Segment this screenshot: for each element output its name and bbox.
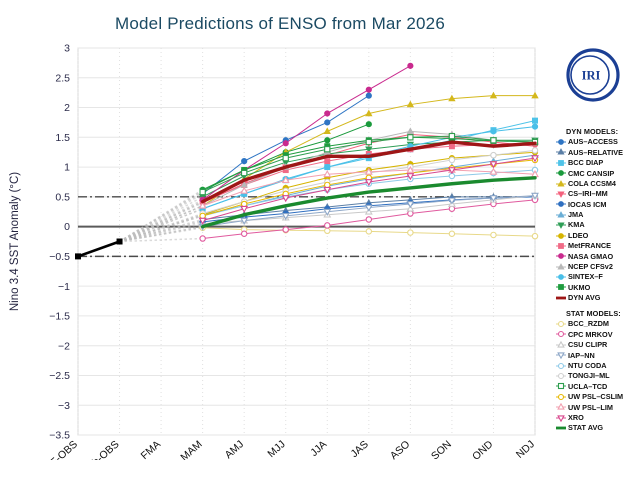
legend-item-label: UW PSL–LIM (568, 404, 613, 411)
legend-item-ncep-cfsv2[interactable]: NCEP CFSv2 (556, 261, 640, 271)
legend-item-cpc-mrkov[interactable]: CPC MRKOV (556, 329, 640, 339)
x-tick-label: OND (470, 438, 496, 460)
chart-legend: DYN MODELS: AUS–ACCESSAUS–RELATIVEBCC DI… (556, 128, 640, 433)
data-point (325, 182, 330, 187)
data-point (241, 201, 246, 206)
legend-item-aus-relative[interactable]: AUS–RELATIVE (556, 147, 640, 157)
legend-dyn-list: AUS–ACCESSAUS–RELATIVEBCC DIAPCMC CANSIP… (556, 137, 640, 303)
legend-item-ntu-coda[interactable]: NTU CODA (556, 360, 640, 370)
legend-item-label: NASA GMAO (568, 253, 613, 260)
legend-item-label: IAP–NN (568, 352, 595, 359)
legend-item-iap-nn[interactable]: IAP–NN (556, 350, 640, 360)
legend-marker-icon (556, 189, 566, 199)
legend-item-metfrance[interactable]: MetFRANCE (556, 241, 640, 251)
data-point (325, 120, 330, 125)
data-point (366, 229, 371, 234)
data-point (449, 134, 454, 139)
legend-marker-icon (556, 210, 566, 220)
data-point (408, 230, 413, 235)
legend-item-label: DYN AVG (568, 294, 600, 301)
legend-marker-icon (556, 231, 566, 241)
legend-marker-icon (556, 423, 566, 433)
y-tick-label: −2.5 (49, 370, 70, 382)
legend-item-dyn-avg[interactable]: DYN AVG (556, 293, 640, 303)
legend-item-label: AUS–RELATIVE (568, 149, 623, 156)
data-point (200, 189, 205, 194)
legend-marker-icon (556, 262, 566, 272)
legend-item-ldeo[interactable]: LDEO (556, 230, 640, 240)
legend-item-csu-clipr[interactable]: CSU CLIPR (556, 340, 640, 350)
legend-marker-icon (556, 158, 566, 168)
data-point (366, 87, 371, 92)
svg-text:IRI: IRI (582, 69, 601, 83)
legend-marker-icon (556, 319, 566, 329)
x-tick-label: JJA (308, 438, 329, 459)
data-point (325, 223, 330, 228)
legend-marker-icon (556, 220, 566, 230)
legend-item-label: XRO (568, 414, 584, 421)
plot-frame (78, 48, 535, 435)
legend-marker-icon (556, 381, 566, 391)
legend-marker-icon (556, 329, 566, 339)
legend-item-label: BCC DIAP (568, 159, 603, 166)
data-point (408, 135, 413, 140)
legend-item-label: NTU CODA (568, 362, 607, 369)
y-tick-label: −3 (58, 400, 70, 412)
x-tick-label: MAM (178, 438, 204, 460)
legend-marker-icon (556, 168, 566, 178)
x-tick-label: ASO (388, 438, 413, 460)
legend-item-bcc-diap[interactable]: BCC DIAP (556, 158, 640, 168)
legend-item-label: CSU CLIPR (568, 341, 607, 348)
legend-item-label: MetFRANCE (568, 242, 611, 249)
legend-item-tongji-ml[interactable]: TONGJI–ML (556, 371, 640, 381)
data-point (325, 111, 330, 116)
data-point (283, 141, 288, 146)
legend-item-label: CPC MRKOV (568, 331, 613, 338)
legend-item-xro[interactable]: XRO (556, 412, 640, 422)
legend-item-uw-psl-cslim[interactable]: UW PSL–CSLIM (556, 392, 640, 402)
data-point (366, 122, 371, 127)
legend-item-label: TONGJI–ML (568, 372, 610, 379)
legend-marker-icon (556, 272, 566, 282)
legend-header-stat: STAT MODELS: (566, 310, 640, 317)
legend-marker-icon (556, 241, 566, 251)
y-tick-label: 1 (64, 162, 70, 174)
legend-item-label: NCEP CFSv2 (568, 263, 613, 270)
legend-item-label: AUS–ACCESS (568, 138, 618, 145)
legend-item-label: UKMO (568, 284, 590, 291)
legend-item-jma[interactable]: JMA (556, 210, 640, 220)
data-point (491, 232, 496, 237)
legend-marker-icon (556, 402, 566, 412)
legend-item-label: JMA (568, 211, 583, 218)
enso-chart-svg: 32.521.510.50−0.5−1−1.5−2−2.5−3−3.5Nino … (0, 40, 560, 460)
x-tick-label: Feb-OBS (81, 438, 122, 460)
data-point (532, 233, 537, 238)
page-title: Model Predictions of ENSO from Mar 2026 (0, 14, 560, 34)
legend-item-iocas-icm[interactable]: IOCAS ICM (556, 199, 640, 209)
y-tick-label: −0.5 (49, 251, 70, 263)
legend-item-label: UCLA–TCD (568, 383, 607, 390)
legend-marker-icon (556, 293, 566, 303)
legend-marker-icon (556, 199, 566, 209)
legend-item-ukmo[interactable]: UKMO (556, 282, 640, 292)
x-tick-label: FMA (139, 438, 164, 460)
legend-item-label: UW PSL–CSLIM (568, 393, 623, 400)
data-point (491, 129, 496, 134)
legend-item-label: CMC CANSIP (568, 170, 614, 177)
legend-marker-icon (556, 147, 566, 157)
legend-marker-icon (556, 413, 566, 423)
data-point (241, 158, 246, 163)
data-point (532, 118, 537, 123)
legend-stat-list: BCC_RZDMCPC MRKOVCSU CLIPRIAP–NNNTU CODA… (556, 319, 640, 433)
observed-point (117, 239, 123, 245)
legend-marker-icon (556, 251, 566, 261)
legend-item-uw-psl-lim[interactable]: UW PSL–LIM (556, 402, 640, 412)
data-point (449, 206, 454, 211)
data-point (532, 124, 537, 129)
legend-item-label: SINTEX–F (568, 273, 603, 280)
legend-marker-icon (556, 282, 566, 292)
legend-item-label: STAT AVG (568, 424, 603, 431)
data-point (491, 152, 496, 157)
data-point (200, 213, 205, 218)
legend-item-label: LDEO (568, 232, 588, 239)
legend-marker-icon (556, 179, 566, 189)
y-tick-label: 3 (64, 43, 70, 55)
legend-item-nasa-gmao[interactable]: NASA GMAO (556, 251, 640, 261)
y-tick-label: −2 (58, 340, 70, 352)
data-point (449, 157, 454, 162)
legend-marker-icon (556, 340, 566, 350)
data-point (283, 156, 288, 161)
data-point (366, 139, 371, 144)
legend-item-label: CS–IRI–MM (568, 190, 608, 197)
y-tick-label: −3.5 (49, 430, 70, 442)
data-point (366, 93, 371, 98)
y-axis-label: Nino 3.4 SST Anomaly (°C) (9, 172, 21, 311)
data-point (283, 227, 288, 232)
legend-item-cs-iri-mm[interactable]: CS–IRI–MM (556, 189, 640, 199)
legend-header-dyn: DYN MODELS: (566, 128, 640, 135)
chart-plot-area: 32.521.510.50−0.5−1−1.5−2−2.5−3−3.5Nino … (0, 40, 560, 460)
legend-marker-icon (556, 392, 566, 402)
legend-item-cola-ccsm4[interactable]: COLA CCSM4 (556, 178, 640, 188)
x-tick-label: JAS (348, 438, 370, 460)
iri-logo: IRI (566, 48, 620, 102)
data-point (449, 144, 454, 149)
legend-marker-icon (556, 361, 566, 371)
data-point (366, 217, 371, 222)
y-tick-label: 2.5 (55, 72, 70, 84)
legend-marker-icon (556, 371, 566, 381)
data-point (200, 236, 205, 241)
legend-marker-icon (556, 137, 566, 147)
legend-item-ucla-tcd[interactable]: UCLA–TCD (556, 381, 640, 391)
data-point (408, 63, 413, 68)
legend-marker-icon (556, 350, 566, 360)
observed-point (75, 253, 81, 259)
x-tick-label: MJJ (265, 438, 287, 460)
legend-item-stat-avg[interactable]: STAT AVG (556, 423, 640, 433)
data-point (325, 147, 330, 152)
data-point (242, 170, 247, 175)
data-point (532, 148, 537, 153)
y-tick-label: −1 (58, 281, 70, 293)
x-tick-label: NDJ (514, 438, 537, 460)
y-tick-label: 2 (64, 102, 70, 114)
legend-item-label: KMA (568, 221, 585, 228)
y-tick-label: −1.5 (49, 311, 70, 323)
y-tick-label: 0.5 (55, 191, 70, 203)
legend-item-cmc-cansip[interactable]: CMC CANSIP (556, 168, 640, 178)
legend-item-label: IOCAS ICM (568, 201, 607, 208)
data-point (325, 138, 330, 143)
x-tick-label: AMJ (223, 438, 247, 460)
data-point (325, 164, 330, 169)
legend-item-label: COLA CCSM4 (568, 180, 616, 187)
data-point (491, 138, 496, 143)
y-tick-label: 0 (64, 221, 70, 233)
data-point (241, 231, 246, 236)
data-point (325, 228, 330, 233)
legend-item-aus-access[interactable]: AUS–ACCESS (556, 137, 640, 147)
legend-item-bcc-rzdm[interactable]: BCC_RZDM (556, 319, 640, 329)
x-tick-label: SON (429, 438, 454, 460)
data-point (325, 159, 330, 164)
data-point (408, 211, 413, 216)
legend-item-label: BCC_RZDM (568, 320, 609, 327)
y-tick-label: 1.5 (55, 132, 70, 144)
legend-item-sintex-f[interactable]: SINTEX–F (556, 272, 640, 282)
legend-item-kma[interactable]: KMA (556, 220, 640, 230)
data-point (449, 231, 454, 236)
